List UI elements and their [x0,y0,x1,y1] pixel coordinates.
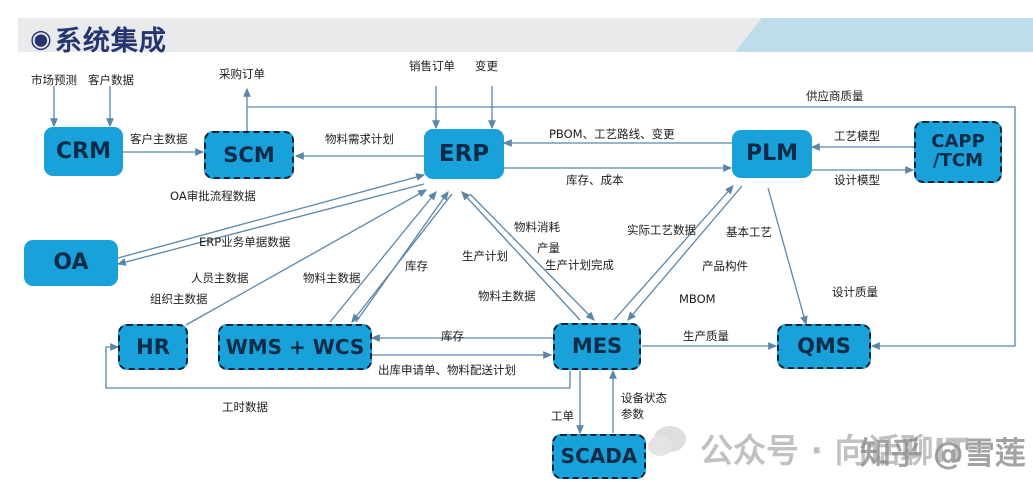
node-qms[interactable]: QMS [777,324,871,369]
edge-label-work-order: 工单 [551,408,574,424]
edge-label-market-forecast: 市场预测 [31,72,77,88]
node-capp-tcm-label: CAPP /TCM [931,133,985,171]
node-scada-label: SCADA [561,446,638,467]
edge-label-material-master-b: 物料主数据 [478,288,536,304]
edge-label-production-plan: 生产计划 [462,248,508,264]
edge-label-org-master: 组织主数据 [150,291,208,307]
edge-label-actual-process-data: 实际工艺数据 [627,222,696,238]
node-oa[interactable]: OA [24,240,118,286]
node-hr[interactable]: HR [118,324,188,370]
node-erp-label: ERP [439,142,489,166]
edge-label-production-quality: 生产质量 [683,328,729,344]
edge-label-product-component: 产品构件 [702,258,748,274]
edge-label-prod-plan-done: 生产计划完成 [545,257,614,273]
node-erp[interactable]: ERP [424,129,504,179]
edge-label-process-model: 工艺模型 [834,128,880,144]
edge-hr-to-erp [186,190,426,325]
edge-label-basic-process: 基本工艺 [726,224,772,240]
edge-label-device-params: 参数 [621,406,644,422]
edge-label-device-status: 设备状态 [621,390,667,406]
node-plm-label: PLM [746,142,798,165]
edge-label-material-master-a: 物料主数据 [303,270,361,286]
node-crm[interactable]: CRM [44,127,123,176]
connector-layer [0,0,1033,502]
node-scm-label: SCM [223,144,274,166]
edge-plm-to-qms [768,188,806,324]
node-wms-wcs-label: WMS + WCS [226,337,365,358]
edge-label-worktime-data: 工时数据 [222,399,268,415]
edge-label-material-req-plan: 物料需求计划 [325,131,394,147]
node-scada[interactable]: SCADA [552,434,646,479]
edge-label-design-quality: 设计质量 [832,284,878,300]
edge-label-design-model: 设计模型 [834,172,880,188]
edge-label-inventory-cost: 库存、成本 [566,172,624,188]
node-scm[interactable]: SCM [204,131,294,179]
edge-label-sales-order: 销售订单 [409,58,455,74]
edge-label-supplier-quality: 供应商质量 [806,88,864,104]
edge-erp-to-oa [118,184,424,264]
edge-label-material-consumption: 物料消耗 [514,219,560,235]
edge-label-output-qty: 产量 [537,240,560,256]
edge-label-pbom-route-change: PBOM、工艺路线、变更 [549,126,675,142]
edge-label-oa-approval-flow: OA审批流程数据 [170,188,256,204]
edge-label-outbound-request: 出库申请单、物料配送计划 [378,362,516,378]
edge-label-customer-master-data: 客户主数据 [130,131,188,147]
node-wms-wcs[interactable]: WMS + WCS [218,324,372,370]
edge-wms-to-erp [330,192,436,322]
diagram-canvas: ◉系统集成 [0,0,1033,502]
node-hr-label: HR [136,336,170,358]
node-mes-label: MES [572,335,622,357]
edge-label-inventory-a: 库存 [405,258,428,274]
node-crm-label: CRM [56,140,111,163]
edge-label-inventory-b: 库存 [441,328,464,344]
node-qms-label: QMS [797,335,851,357]
edge-label-personnel-master: 人员主数据 [191,270,249,286]
edge-erp-to-wms [352,194,452,322]
edge-label-change: 变更 [475,58,498,74]
node-oa-label: OA [53,251,88,274]
edge-label-purchase-order: 采购订单 [219,66,265,82]
node-capp-tcm[interactable]: CAPP /TCM [914,121,1002,183]
edge-label-customer-data: 客户数据 [88,72,134,88]
edge-label-mbom: MBOM [679,292,716,306]
node-plm[interactable]: PLM [732,130,812,178]
node-mes[interactable]: MES [553,323,641,370]
edge-label-erp-doc-data: ERP业务单据数据 [199,234,290,250]
